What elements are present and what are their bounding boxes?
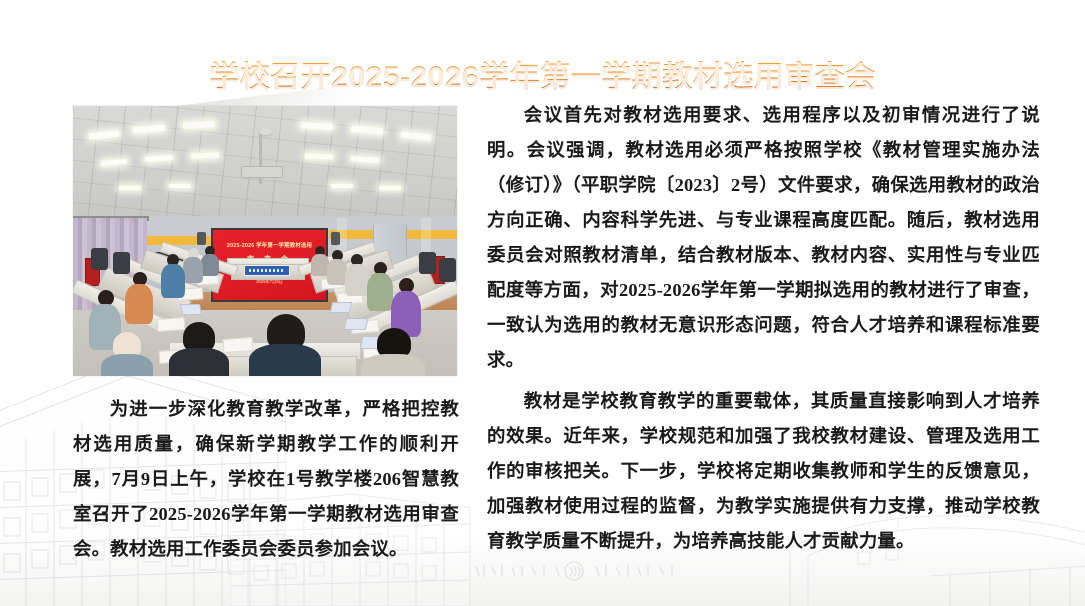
attendee-body (183, 257, 203, 283)
name-card (330, 302, 352, 313)
led-date: 2025年7月9日 (256, 279, 283, 284)
attendee-foreground (101, 332, 153, 376)
right-paragraph-1: 会议首先对教材选用要求、选用程序以及初审情况进行了说明。会议强调，教材选用必须严… (487, 98, 1040, 378)
left-column: 2025-2026 学年第一学期教材选用 审 查 会 平顶山工业职业技术学院 2… (73, 98, 459, 567)
ceiling-light (331, 184, 353, 188)
name-card (180, 304, 202, 315)
right-column: 会议首先对教材选用要求、选用程序以及初审情况进行了说明。会议强调，教材选用必须严… (487, 98, 1040, 559)
ceiling-light (305, 154, 333, 160)
attendee-body (201, 254, 219, 276)
attendee-foreground (249, 314, 321, 376)
left-paragraph-1: 为进一步深化教育教学改革，严格把控教材选用质量，确保新学期教学工作的顺利开展，7… (73, 392, 459, 567)
attendee (125, 272, 153, 320)
attendee-body (101, 354, 153, 376)
chair (419, 252, 436, 274)
ceiling-light (169, 184, 191, 188)
projector (241, 166, 283, 178)
attendee (327, 250, 347, 282)
attendee (367, 262, 393, 308)
table-name-banner (244, 265, 290, 276)
wall-speaker (197, 232, 206, 245)
attendee-body (361, 354, 425, 376)
page-title: 学校召开2025-2026学年第一学期教材选用审查会 (209, 60, 875, 96)
attendee-body (125, 284, 153, 324)
attendee-foreground (169, 322, 229, 376)
ceiling-light (119, 186, 141, 190)
chair (113, 252, 130, 274)
attendee-body (169, 348, 229, 376)
attendee-body (249, 344, 321, 376)
meeting-photo: 2025-2026 学年第一学期教材选用 审 查 会 平顶山工业职业技术学院 2… (73, 106, 457, 376)
photo-scene: 2025-2026 学年第一学期教材选用 审 查 会 平顶山工业职业技术学院 2… (73, 106, 457, 376)
led-line-1: 2025-2026 学年第一学期教材选用 (227, 244, 312, 250)
attendee (391, 278, 421, 334)
attendee-body (367, 273, 393, 311)
ceiling-light (191, 153, 219, 159)
chair (439, 258, 456, 282)
wall-speaker (331, 232, 340, 245)
article-page: 学校召开2025-2026学年第一学期教材选用审查会 (0, 0, 1085, 606)
chair (91, 248, 108, 270)
attendee-body (345, 264, 369, 296)
attendee-body (327, 259, 347, 285)
attendee (161, 254, 185, 296)
ceiling-grid (73, 106, 457, 224)
attendee-foreground (361, 328, 425, 376)
attendee (183, 248, 203, 280)
ceiling-light (379, 186, 401, 190)
attendee (345, 254, 369, 294)
article-body: 2025-2026 学年第一学期教材选用 审 查 会 平顶山工业职业技术学院 2… (0, 98, 1085, 598)
right-paragraph-2: 教材是学校教育教学的重要载体，其质量直接影响到人才培养的效果。近年来，学校规范和… (487, 384, 1040, 559)
attendee (201, 246, 219, 274)
attendee-body (161, 264, 185, 298)
